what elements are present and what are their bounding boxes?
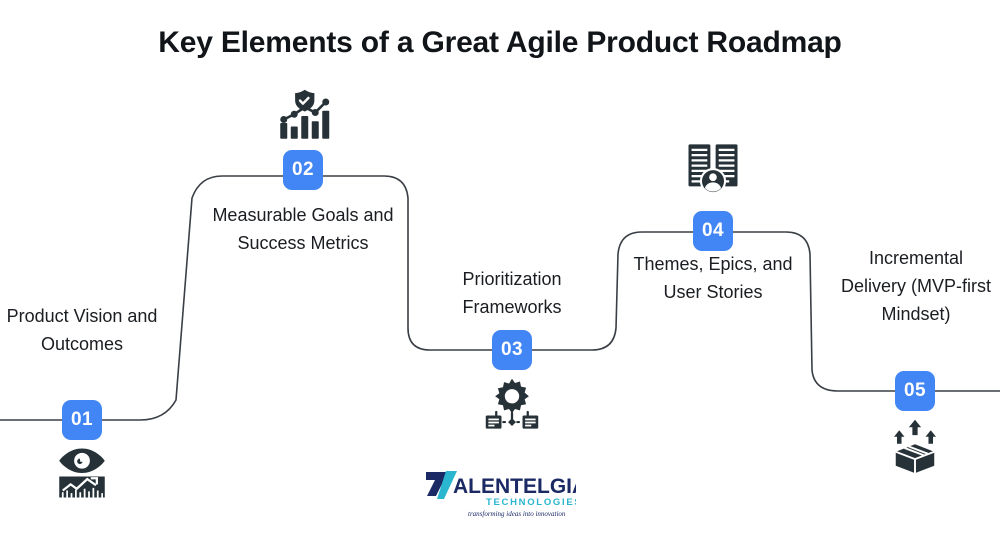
eye-growth-chart-icon bbox=[54, 445, 110, 501]
step-badge-01[interactable]: 01 bbox=[62, 400, 102, 440]
logo-mark bbox=[426, 471, 457, 499]
package-up-arrows-icon bbox=[887, 418, 943, 474]
step-label-03: Prioritization Frameworks bbox=[424, 265, 600, 321]
infographic-canvas: Key Elements of a Great Agile Product Ro… bbox=[0, 0, 1000, 539]
bar-chart-shield-check-icon bbox=[275, 88, 331, 144]
step-label-05: Incremental Delivery (MVP-first Mindset) bbox=[838, 244, 994, 328]
step-badge-05[interactable]: 05 bbox=[895, 371, 935, 411]
step-label-04: Themes, Epics, and User Stories bbox=[623, 250, 803, 306]
gear-workflow-nodes-icon bbox=[484, 377, 540, 433]
talentelgia-logo: ALENTELGIA TECHNOLOGIES transforming ide… bbox=[424, 468, 576, 522]
step-label-02: Measurable Goals and Success Metrics bbox=[207, 201, 399, 257]
step-badge-04[interactable]: 04 bbox=[693, 211, 733, 251]
logo-subtitle: TECHNOLOGIES bbox=[486, 497, 576, 508]
step-badge-03[interactable]: 03 bbox=[492, 330, 532, 370]
step-badge-02[interactable]: 02 bbox=[283, 150, 323, 190]
logo-tagline: transforming ideas into innovation bbox=[468, 510, 566, 518]
open-book-user-icon bbox=[685, 140, 741, 196]
step-label-01: Product Vision and Outcomes bbox=[6, 302, 158, 358]
logo-wordmark: ALENTELGIA bbox=[453, 475, 576, 498]
